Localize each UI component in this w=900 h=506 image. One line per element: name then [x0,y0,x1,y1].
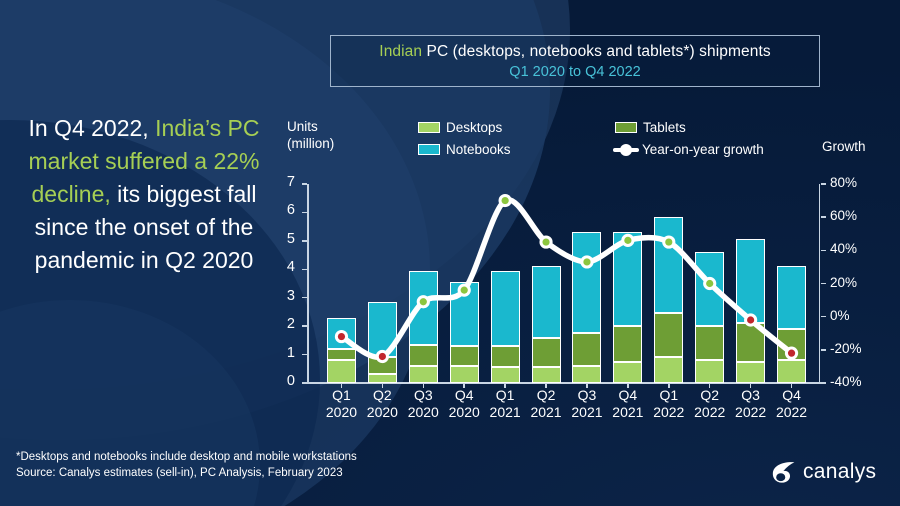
y2-tick [821,250,826,252]
chart-plot-area: 01234567 -40%-20%0%20%40%60%80% Q12020Q2… [307,184,820,383]
y-tick-label: 1 [255,345,295,361]
growth-line-series [307,184,820,383]
y-axis-title-line2: (million) [287,135,334,152]
y-tick-label: 7 [255,174,295,190]
y-axis-title-line1: Units [287,118,334,135]
legend-swatch-notebooks [418,144,440,155]
growth-marker[interactable] [665,238,672,245]
chart-subtitle: Q1 2020 to Q4 2022 [509,64,640,80]
y-tick-label: 6 [255,202,295,218]
footnote-line-1: *Desktops and notebooks include desktop … [16,449,357,465]
growth-marker[interactable] [706,280,713,287]
legend-swatch-tablets [615,122,637,133]
legend-label-desktops: Desktops [446,120,502,135]
x-tick-label: Q42022 [767,387,817,421]
legend-line-marker-icon [613,148,639,152]
legend-item-growth-line[interactable]: Year-on-year growth [613,142,764,157]
growth-line-path [341,200,791,358]
y-tick-label: 3 [255,288,295,304]
chart-title-rest: PC (desktops, notebooks and tablets*) sh… [422,43,771,60]
legend-label-growth: Year-on-year growth [642,142,764,157]
chart-title: Indian PC (desktops, notebooks and table… [379,43,770,61]
canalys-swirl-icon [770,459,796,485]
y-tick-label: 4 [255,259,295,275]
legend-label-notebooks: Notebooks [446,142,511,157]
y2-axis-title: Growth [822,139,866,154]
y2-tick [821,349,826,351]
growth-marker[interactable] [502,197,509,204]
legend-item-tablets[interactable]: Tablets [615,120,686,135]
y2-tick [821,216,826,218]
y2-tick-label: 80% [830,175,882,190]
y2-tick-label: -20% [830,341,882,356]
chart-title-accent: Indian [379,43,422,60]
growth-marker[interactable] [461,287,468,294]
growth-marker[interactable] [379,353,386,360]
legend-item-desktops[interactable]: Desktops [418,120,502,135]
growth-marker[interactable] [788,350,795,357]
y2-tick [821,316,826,318]
headline-part-1: In Q4 2022, [28,115,155,141]
footnote: *Desktops and notebooks include desktop … [16,449,357,481]
y2-tick-label: 40% [830,241,882,256]
y-tick-label: 2 [255,316,295,332]
canalys-wordmark: canalys [803,460,876,484]
legend-swatch-desktops [418,122,440,133]
growth-marker[interactable] [747,316,754,323]
growth-marker[interactable] [338,333,345,340]
y2-tick [821,382,826,384]
chart-legend: Desktops Notebooks Tablets Year-on-year … [410,118,810,162]
chart-title-box: Indian PC (desktops, notebooks and table… [330,35,820,87]
y2-tick-label: 0% [830,308,882,323]
canalys-logo: canalys [770,459,876,485]
legend-item-notebooks[interactable]: Notebooks [418,142,511,157]
y-tick-label: 5 [255,231,295,247]
growth-marker[interactable] [583,258,590,265]
y-tick-label: 0 [255,373,295,389]
footnote-line-2: Source: Canalys estimates (sell-in), PC … [16,465,357,481]
y2-tick-label: 60% [830,208,882,223]
y2-tick-label: -40% [830,374,882,389]
growth-marker[interactable] [624,237,631,244]
growth-marker[interactable] [420,298,427,305]
growth-marker[interactable] [542,238,549,245]
legend-label-tablets: Tablets [643,120,686,135]
headline-text: In Q4 2022, India’s PC market suffered a… [8,112,280,277]
y2-tick [821,183,826,185]
y-axis-title: Units (million) [287,118,334,152]
y2-tick [821,283,826,285]
y2-tick-label: 20% [830,275,882,290]
